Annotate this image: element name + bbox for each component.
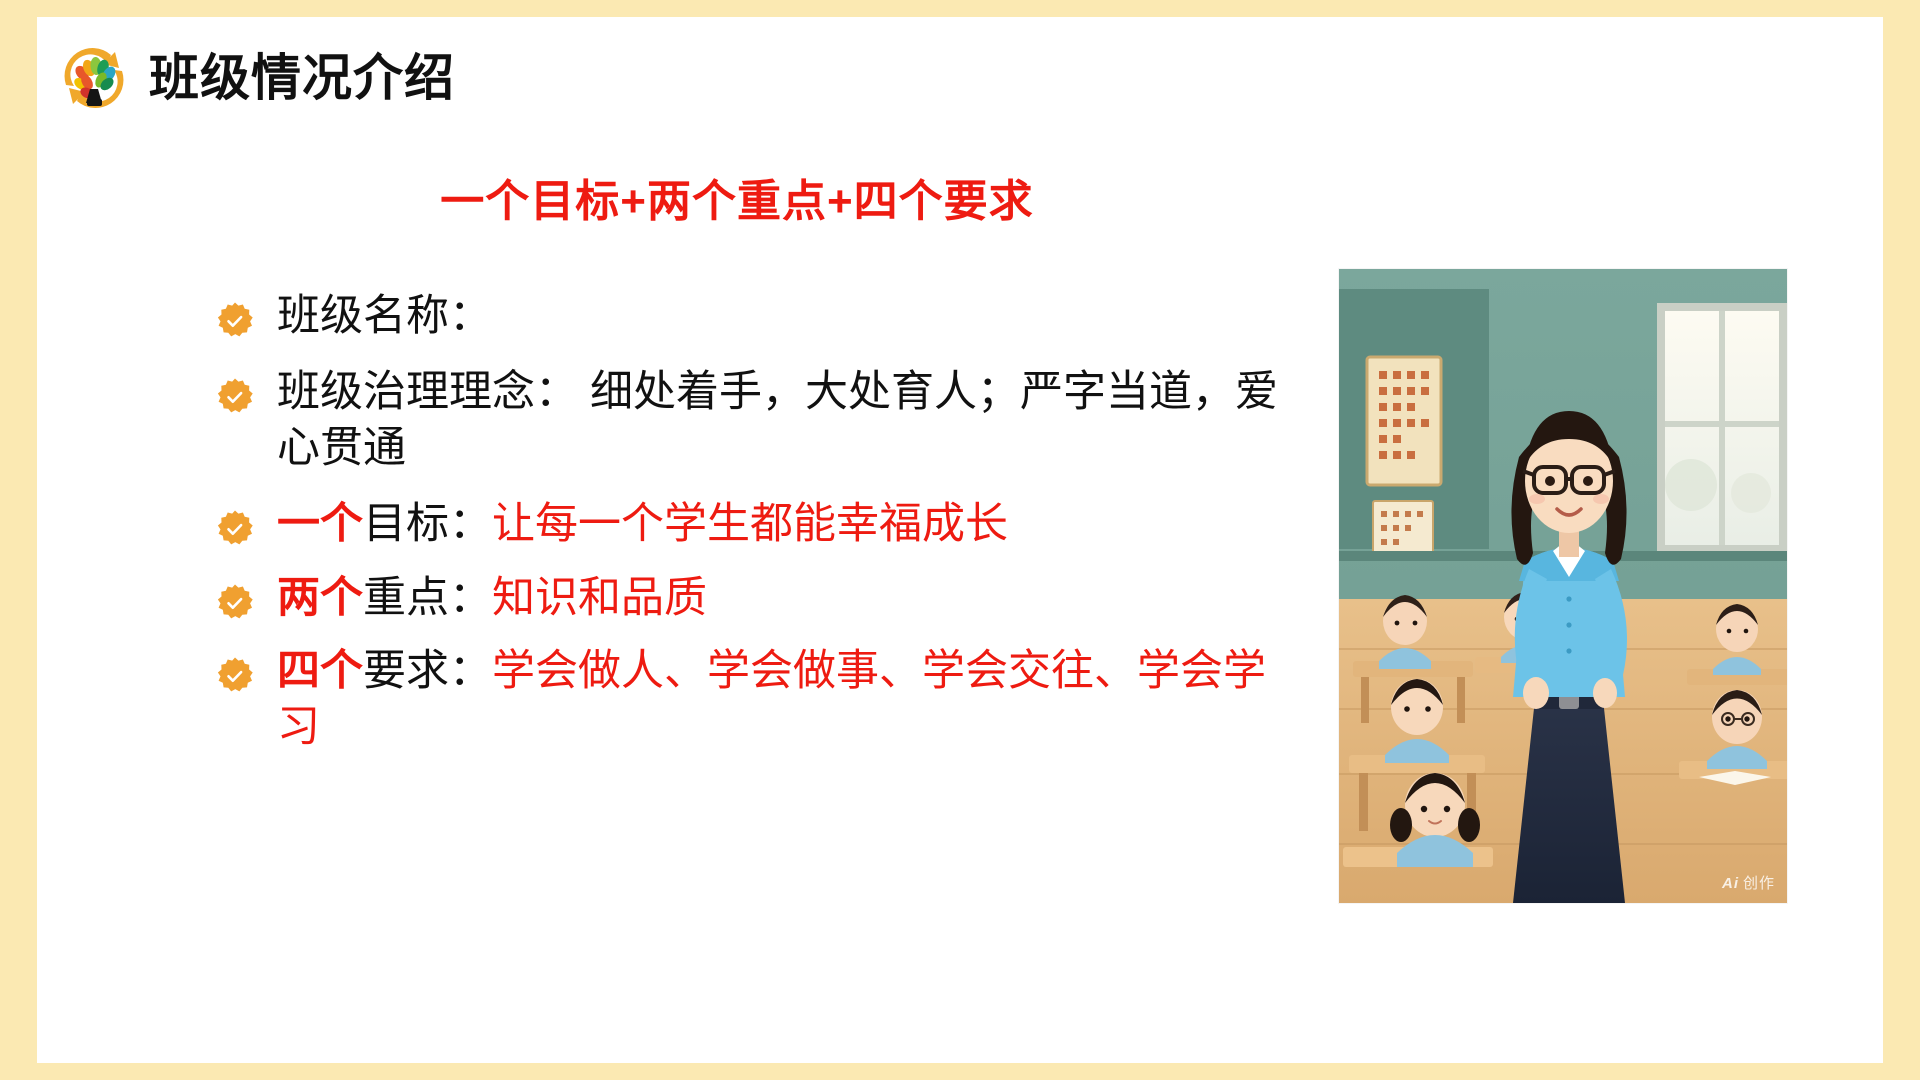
list-item-segment: 一个 — [277, 500, 363, 548]
slide-root: 班级情况介绍 一个目标+两个重点+四个要求 班级名称： — [0, 0, 1920, 1080]
page-title: 班级情况介绍 — [149, 53, 455, 103]
list-item-segment: 班级名称： — [277, 292, 492, 340]
list-item-segment: 让每一个学生都能幸福成长 — [492, 500, 1008, 548]
check-badge-icon — [215, 656, 255, 696]
check-badge-icon — [215, 509, 255, 549]
check-badge-icon — [215, 377, 255, 417]
classroom-teacher-illustration: Ai创作 — [1339, 269, 1787, 903]
list-item-segment: 目标： — [363, 500, 492, 548]
check-badge-icon — [215, 583, 255, 623]
list-item-text: 班级治理理念： 细处着手，大处育人；严字当道，爱心贯通 — [277, 365, 1305, 477]
list-item-text: 四个要求：学会做人、学会做事、学会交往、学会学习 — [277, 644, 1305, 756]
list-item-text: 两个重点：知识和品质 — [277, 571, 707, 627]
school-tree-logo-icon — [57, 41, 131, 115]
list-item-segment: 四个 — [277, 647, 363, 695]
list-item: 班级名称： — [215, 289, 1305, 345]
list-item: 两个重点：知识和品质 — [215, 571, 1305, 627]
list-item-text: 班级名称： — [277, 289, 492, 345]
list-item-segment: 两个 — [277, 574, 363, 622]
list-item: 一个目标：让每一个学生都能幸福成长 — [215, 497, 1305, 553]
list-item: 班级治理理念： 细处着手，大处育人；严字当道，爱心贯通 — [215, 365, 1305, 477]
slide-header: 班级情况介绍 — [57, 41, 455, 115]
slide-canvas: 班级情况介绍 一个目标+两个重点+四个要求 班级名称： — [37, 17, 1883, 1063]
list-item-text: 一个目标：让每一个学生都能幸福成长 — [277, 497, 1008, 553]
list-item-segment: 班级治理理念： 细处着手，大处育人；严字当道，爱心贯通 — [277, 368, 1278, 472]
check-badge-icon — [215, 301, 255, 341]
list-item: 四个要求：学会做人、学会做事、学会交往、学会学习 — [215, 644, 1305, 756]
bullet-list: 班级名称： 班级治理理念： 细处着手，大处育人；严字当道，爱心贯通 — [215, 289, 1305, 776]
list-item-segment: 知识和品质 — [492, 574, 707, 622]
list-item-segment: 要求： — [363, 647, 492, 695]
slide-subtitle: 一个目标+两个重点+四个要求 — [37, 165, 1437, 229]
list-item-segment: 重点： — [363, 574, 492, 622]
